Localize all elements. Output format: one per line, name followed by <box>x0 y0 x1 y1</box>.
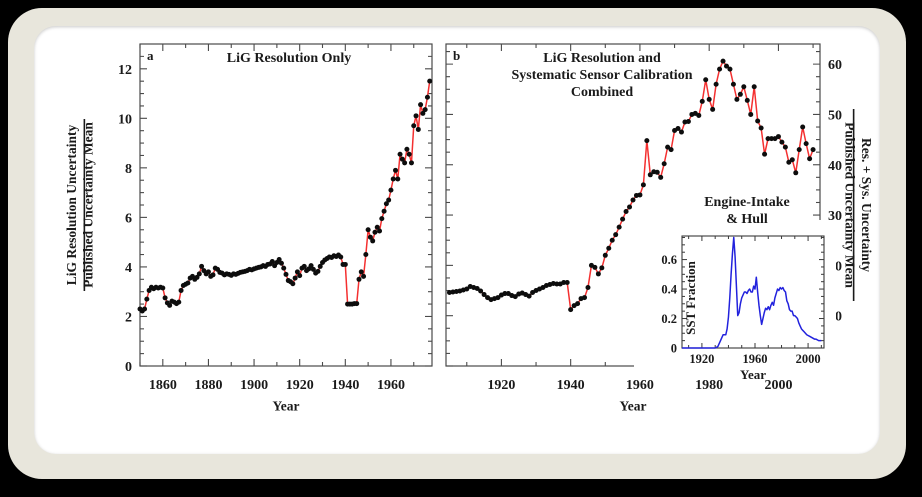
data-point <box>679 130 684 135</box>
inset-x-tick-label: 1960 <box>742 352 767 366</box>
data-point <box>585 285 590 290</box>
inset-x-axis-title: Year <box>740 367 766 382</box>
figure-canvas: 186018801900192019401960Year024681012LiG… <box>34 26 880 454</box>
data-point <box>404 147 409 152</box>
y-tick-label: 2 <box>125 311 132 326</box>
data-point <box>391 176 396 181</box>
data-point <box>714 82 719 87</box>
data-point <box>393 168 398 173</box>
data-point <box>575 301 580 306</box>
chart-inset-sst: 192019602000Year00.20.40.6SST FractionEn… <box>634 195 836 382</box>
data-point <box>741 84 746 89</box>
data-point <box>748 112 753 117</box>
data-point <box>284 272 289 277</box>
x-tick-label: 2000 <box>764 378 792 393</box>
y-tick-label: 0 <box>125 360 132 375</box>
x-tick-label: 1940 <box>331 378 359 393</box>
y-tick-label: 10 <box>118 112 132 127</box>
y-tick-label: 4 <box>125 261 132 276</box>
data-point <box>603 253 608 258</box>
data-point <box>703 77 708 82</box>
data-point <box>734 97 739 102</box>
data-point <box>386 198 391 203</box>
x-tick-label: 1940 <box>557 378 585 393</box>
data-point <box>610 238 615 243</box>
data-point <box>797 147 802 152</box>
y-tick-label: 6 <box>125 211 132 226</box>
data-point <box>407 152 412 157</box>
data-point <box>696 113 701 118</box>
y-axis-denominator: Published Uncertainty Mean <box>843 122 858 288</box>
data-point <box>655 170 660 175</box>
data-point <box>416 127 421 132</box>
data-point <box>624 209 629 214</box>
data-point <box>185 281 190 286</box>
x-tick-label: 1860 <box>149 378 177 393</box>
data-point <box>620 217 625 222</box>
data-point <box>804 141 809 146</box>
data-point <box>179 288 184 293</box>
data-point <box>565 280 570 285</box>
x-tick-label: 1960 <box>377 378 405 393</box>
data-point <box>398 152 403 157</box>
data-point <box>354 301 359 306</box>
panel-label-b: b <box>453 48 460 63</box>
data-point <box>163 295 168 300</box>
data-point <box>686 119 691 124</box>
data-point <box>637 192 642 197</box>
inset-y-tick-label: 0.6 <box>661 253 677 267</box>
x-axis-panel-a: 186018801900192019401960Year <box>140 44 414 414</box>
data-point <box>377 229 382 234</box>
data-point <box>199 264 204 269</box>
data-point <box>793 170 798 175</box>
data-point <box>370 238 375 243</box>
panel-label-a: a <box>147 48 154 63</box>
data-point <box>776 134 781 139</box>
data-point <box>315 269 320 274</box>
y-axis-title-panel-b: Res. + Sys. UncertaintyPublished Uncerta… <box>843 109 875 301</box>
data-point <box>279 261 284 266</box>
data-point <box>395 176 400 181</box>
data-point <box>379 216 384 221</box>
data-point <box>388 188 393 193</box>
x-tick-label: 1900 <box>240 378 268 393</box>
data-point <box>359 269 364 274</box>
x-tick-label: 1960 <box>626 378 654 393</box>
data-point <box>783 145 788 150</box>
data-point <box>425 95 430 100</box>
data-point <box>644 138 649 143</box>
data-point <box>423 107 428 112</box>
data-point <box>411 123 416 128</box>
data-point <box>361 274 366 279</box>
chart-title-line: LiG Resolution and <box>543 51 661 66</box>
data-point <box>707 97 712 102</box>
data-point <box>710 107 715 112</box>
y-axis-numerator: Res. + Sys. Uncertainty <box>859 138 874 272</box>
data-point <box>402 160 407 165</box>
inset-x-tick-label: 1920 <box>689 352 714 366</box>
data-point <box>343 262 348 267</box>
data-point <box>700 99 705 104</box>
data-point <box>338 255 343 260</box>
data-point <box>290 281 295 286</box>
data-point <box>568 307 573 312</box>
inset-y-tick-label: 0 <box>671 342 677 356</box>
data-point <box>721 59 726 64</box>
data-point <box>641 182 646 187</box>
chart-title-panel-b: LiG Resolution andSystematic Sensor Cali… <box>512 51 693 100</box>
y-tick-label: 8 <box>125 162 132 177</box>
data-point <box>372 230 377 235</box>
data-point <box>599 265 604 270</box>
data-point <box>727 67 732 72</box>
data-point <box>142 307 147 312</box>
data-point <box>409 160 414 165</box>
x-tick-label: 1920 <box>487 378 515 393</box>
inset-y-axis-title: SST Fraction <box>683 260 698 335</box>
data-point <box>606 246 611 251</box>
data-point <box>176 300 181 305</box>
y-tick-label: 12 <box>118 63 132 78</box>
chart-title-line: Systematic Sensor Calibration <box>512 68 693 83</box>
inset-title-line: Engine-Intake <box>704 195 790 210</box>
data-point <box>418 102 423 107</box>
chart-panel-a: 186018801900192019401960Year024681012LiG… <box>64 44 432 414</box>
data-point <box>807 156 812 161</box>
inset-x-tick-label: 2000 <box>796 352 821 366</box>
data-point <box>281 266 286 271</box>
chart-title-line: LiG Resolution Only <box>227 51 351 66</box>
x-axis-title-panel-a: Year <box>273 399 300 414</box>
data-point <box>206 269 211 274</box>
data-point <box>811 147 816 152</box>
data-point <box>293 276 298 281</box>
data-point <box>669 147 674 152</box>
data-point <box>366 227 371 232</box>
y-axis-title-panel-a: LiG Resolution UncertaintyPublished Unce… <box>64 119 96 291</box>
y-tick-label: 60 <box>828 58 842 73</box>
data-point <box>617 225 622 230</box>
y-axis-denominator: Published Uncertainty Mean <box>81 122 96 288</box>
data-point <box>357 277 362 282</box>
y-tick-label: 40 <box>828 159 842 174</box>
data-point <box>759 126 764 131</box>
data-point <box>211 272 216 277</box>
data-point <box>382 209 387 214</box>
data-point <box>755 118 760 123</box>
data-point <box>297 273 302 278</box>
data-point <box>363 252 368 257</box>
figure-inner-panel: 186018801900192019401960Year024681012LiG… <box>34 26 880 454</box>
data-point <box>613 232 618 237</box>
data-point <box>596 271 601 276</box>
inset-y-tick-label: 0.2 <box>661 312 677 326</box>
data-point <box>658 175 663 180</box>
data-point <box>160 285 165 290</box>
data-point <box>779 140 784 145</box>
y-axis-numerator: LiG Resolution Uncertainty <box>64 125 79 286</box>
data-point <box>752 84 757 89</box>
figure-outer-frame: 186018801900192019401960Year024681012LiG… <box>8 8 906 479</box>
x-tick-label: 1880 <box>194 378 222 393</box>
y-tick-label: 50 <box>828 108 842 123</box>
data-point <box>631 197 636 202</box>
chart-title-panel-a: LiG Resolution Only <box>227 51 351 66</box>
data-point <box>762 152 767 157</box>
data-point <box>582 295 587 300</box>
data-point <box>790 157 795 162</box>
data-point <box>427 79 432 84</box>
data-point <box>144 297 149 302</box>
data-point <box>731 82 736 87</box>
data-point <box>662 161 667 166</box>
data-point <box>167 303 172 308</box>
inset-y-tick-label: 0.4 <box>661 283 677 297</box>
data-point <box>800 125 805 130</box>
x-axis-title-panel-b: Year <box>620 399 647 414</box>
data-point <box>717 67 722 72</box>
chart-title-line: Combined <box>571 85 633 100</box>
data-series-panel-a <box>138 79 433 314</box>
data-point <box>738 92 743 97</box>
data-point <box>197 271 202 276</box>
data-point <box>627 205 632 210</box>
data-point <box>592 265 597 270</box>
data-point <box>414 113 419 118</box>
data-point <box>270 259 275 264</box>
inset-title-line: & Hull <box>726 212 768 227</box>
data-point <box>745 98 750 103</box>
data-point <box>302 264 307 269</box>
x-tick-label: 1920 <box>286 378 314 393</box>
x-tick-label: 1980 <box>695 378 723 393</box>
